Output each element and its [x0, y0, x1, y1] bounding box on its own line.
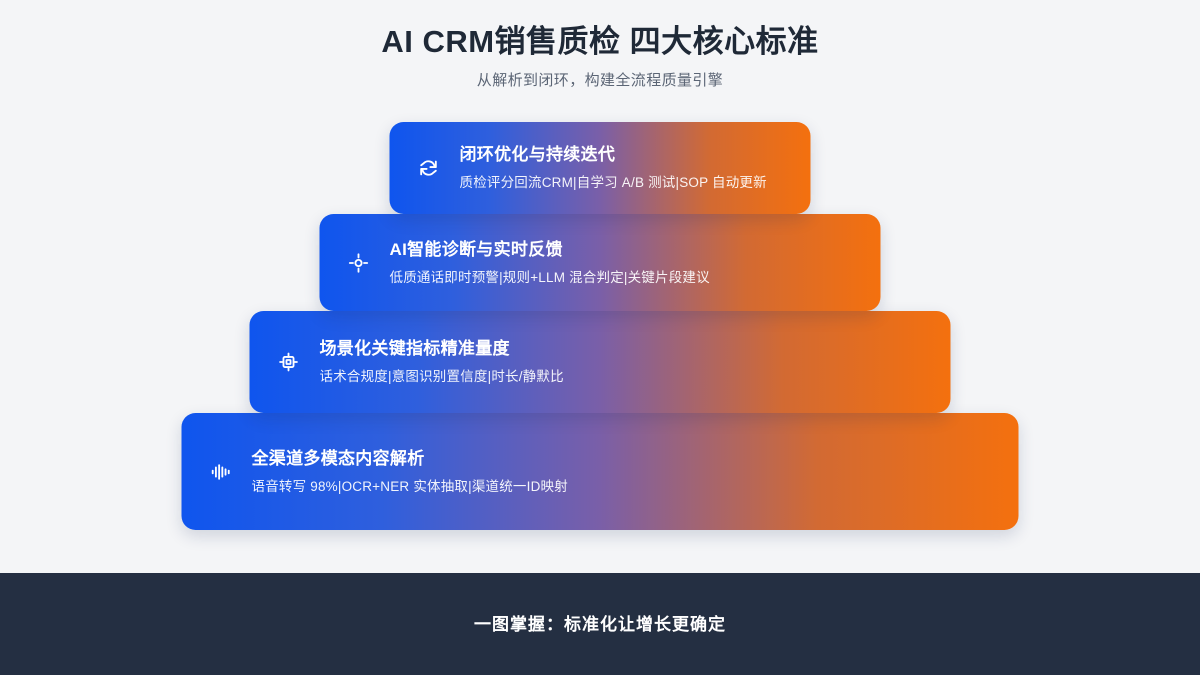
pyramid-diagram: 闭环优化与持续迭代 质检评分回流CRM|自学习 A/B 测试|SOP 自动更新 … [0, 122, 1200, 532]
pyramid-tier-1-text: 闭环优化与持续迭代 质检评分回流CRM|自学习 A/B 测试|SOP 自动更新 [460, 143, 811, 193]
header: AI CRM销售质检 四大核心标准 从解析到闭环，构建全流程质量引擎 [0, 0, 1200, 92]
pyramid-tier-3-text: 场景化关键指标精准量度 话术合规度|意图识别置信度|时长/静默比 [320, 337, 951, 387]
footer-tagline: 一图掌握：标准化让增长更确定 [474, 613, 726, 637]
pyramid-tier-1[interactable]: 闭环优化与持续迭代 质检评分回流CRM|自学习 A/B 测试|SOP 自动更新 [390, 122, 811, 214]
sparkle-target-icon [342, 246, 376, 280]
pyramid-tier-1-subtitle: 质检评分回流CRM|自学习 A/B 测试|SOP 自动更新 [460, 173, 793, 193]
audio-waveform-icon [204, 455, 238, 489]
pyramid-tier-2[interactable]: AI智能诊断与实时反馈 低质通话即时预警|规则+LLM 混合判定|关键片段建议 [320, 214, 881, 311]
pyramid-tier-4-text: 全渠道多模态内容解析 语音转写 98%|OCR+NER 实体抽取|渠道统一ID映… [252, 447, 1019, 497]
pyramid-tier-3-subtitle: 话术合规度|意图识别置信度|时长/静默比 [320, 367, 933, 387]
pyramid-tier-4[interactable]: 全渠道多模态内容解析 语音转写 98%|OCR+NER 实体抽取|渠道统一ID映… [182, 413, 1019, 530]
pyramid-tier-4-subtitle: 语音转写 98%|OCR+NER 实体抽取|渠道统一ID映射 [252, 477, 1001, 497]
pyramid-tier-4-title: 全渠道多模态内容解析 [252, 447, 1001, 471]
pyramid-tier-2-subtitle: 低质通话即时预警|规则+LLM 混合判定|关键片段建议 [390, 268, 863, 288]
footer-bar: 一图掌握：标准化让增长更确定 [0, 573, 1200, 675]
pyramid-tier-2-text: AI智能诊断与实时反馈 低质通话即时预警|规则+LLM 混合判定|关键片段建议 [390, 238, 881, 288]
page-title: AI CRM销售质检 四大核心标准 [0, 0, 1200, 62]
refresh-cycle-icon [412, 151, 446, 185]
infographic-stage: AI CRM销售质检 四大核心标准 从解析到闭环，构建全流程质量引擎 闭环优化与… [0, 0, 1200, 675]
pyramid-tier-1-title: 闭环优化与持续迭代 [460, 143, 793, 167]
pyramid-tier-3[interactable]: 场景化关键指标精准量度 话术合规度|意图识别置信度|时长/静默比 [250, 311, 951, 413]
cpu-chip-icon [272, 345, 306, 379]
page-subtitle: 从解析到闭环，构建全流程质量引擎 [0, 62, 1200, 92]
pyramid-tier-3-title: 场景化关键指标精准量度 [320, 337, 933, 361]
pyramid-tier-2-title: AI智能诊断与实时反馈 [390, 238, 863, 262]
